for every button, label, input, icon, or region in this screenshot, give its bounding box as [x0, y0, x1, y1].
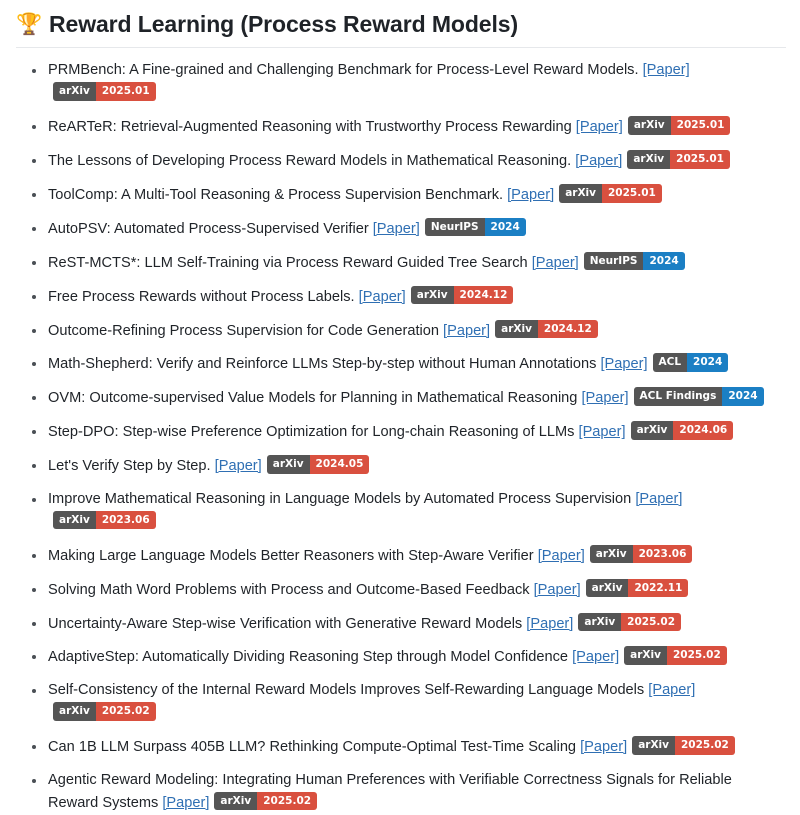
paper-link[interactable]: [Paper] — [643, 62, 690, 78]
badge-source-label: arXiv — [267, 455, 310, 474]
badge-date-label: 2025.01 — [96, 82, 156, 101]
arxiv-badge: arXiv2023.06 — [53, 511, 156, 530]
list-item: The Lessons of Developing Process Reward… — [30, 150, 786, 173]
paper-title: Uncertainty-Aware Step-wise Verification… — [48, 616, 522, 632]
list-item: Can 1B LLM Surpass 405B LLM? Rethinking … — [30, 736, 786, 759]
acl-badge: ACL Findings2024 — [634, 387, 764, 406]
paper-link[interactable]: [Paper] — [532, 255, 579, 271]
badge-date-label: 2023.06 — [96, 511, 156, 530]
paper-link[interactable]: [Paper] — [373, 221, 420, 237]
paper-title: Improve Mathematical Reasoning in Langua… — [48, 491, 631, 507]
arxiv-badge: arXiv2025.02 — [214, 792, 317, 811]
page-title: 🏆 Reward Learning (Process Reward Models… — [16, 10, 786, 48]
arxiv-badge: arXiv2025.01 — [627, 150, 730, 169]
paper-link[interactable]: [Paper] — [507, 187, 554, 203]
paper-link[interactable]: [Paper] — [443, 323, 490, 339]
paper-title: Step-DPO: Step-wise Preference Optimizat… — [48, 424, 574, 440]
paper-title: ReST-MCTS*: LLM Self-Training via Proces… — [48, 255, 528, 271]
badge-source-label: arXiv — [632, 736, 675, 755]
arxiv-badge: arXiv2025.01 — [559, 184, 662, 203]
arxiv-badge: arXiv2024.05 — [267, 455, 370, 474]
badge-source-label: arXiv — [53, 511, 96, 530]
badge-date-label: 2025.02 — [675, 736, 735, 755]
badge-date-label: 2024 — [722, 387, 763, 406]
paper-title: ReARTeR: Retrieval-Augmented Reasoning w… — [48, 119, 572, 135]
arxiv-badge: arXiv2025.02 — [624, 646, 727, 665]
neurips-badge: NeurIPS2024 — [425, 218, 526, 237]
badge-date-label: 2025.01 — [670, 150, 730, 169]
arxiv-badge: arXiv2024.12 — [411, 286, 514, 305]
badge-date-label: 2025.01 — [671, 116, 731, 135]
badge-date-label: 2024 — [687, 353, 728, 372]
paper-title: Math-Shepherd: Verify and Reinforce LLMs… — [48, 356, 596, 372]
paper-title: Free Process Rewards without Process Lab… — [48, 289, 355, 305]
badge-source-label: ACL — [653, 353, 688, 372]
list-item: Solving Math Word Problems with Process … — [30, 579, 786, 602]
list-item: Agentic Reward Modeling: Integrating Hum… — [30, 770, 786, 815]
badge-date-label: 2024.06 — [673, 421, 733, 440]
arxiv-badge: arXiv2025.02 — [53, 702, 156, 721]
list-item: Step-DPO: Step-wise Preference Optimizat… — [30, 421, 786, 444]
badge-date-label: 2025.02 — [667, 646, 727, 665]
badge-source-label: arXiv — [627, 150, 670, 169]
paper-title: PRMBench: A Fine-grained and Challenging… — [48, 62, 639, 78]
badge-source-label: arXiv — [590, 545, 633, 564]
paper-link[interactable]: [Paper] — [572, 649, 619, 665]
paper-title: Making Large Language Models Better Reas… — [48, 548, 534, 564]
paper-link[interactable]: [Paper] — [215, 458, 262, 474]
paper-link[interactable]: [Paper] — [162, 795, 209, 811]
paper-title: Self-Consistency of the Internal Reward … — [48, 682, 644, 698]
paper-link[interactable]: [Paper] — [538, 548, 585, 564]
badge-source-label: arXiv — [586, 579, 629, 598]
page-title-text: Reward Learning (Process Reward Models) — [49, 10, 518, 39]
paper-title: Agentic Reward Modeling: Integrating Hum… — [48, 772, 732, 811]
paper-title: OVM: Outcome-supervised Value Models for… — [48, 390, 577, 406]
arxiv-badge: arXiv2025.01 — [628, 116, 731, 135]
badge-source-label: arXiv — [578, 613, 621, 632]
badge-date-label: 2025.02 — [257, 792, 317, 811]
neurips-badge: NeurIPS2024 — [584, 252, 685, 271]
paper-title: The Lessons of Developing Process Reward… — [48, 153, 571, 169]
badge-source-label: NeurIPS — [584, 252, 644, 271]
badge-source-label: arXiv — [624, 646, 667, 665]
list-item: OVM: Outcome-supervised Value Models for… — [30, 387, 786, 410]
list-item: Self-Consistency of the Internal Reward … — [30, 680, 786, 725]
list-item: Outcome-Refining Process Supervision for… — [30, 320, 786, 343]
arxiv-badge: arXiv2022.11 — [586, 579, 689, 598]
paper-title: AutoPSV: Automated Process-Supervised Ve… — [48, 221, 369, 237]
paper-link[interactable]: [Paper] — [359, 289, 406, 305]
badge-source-label: arXiv — [495, 320, 538, 339]
badge-date-label: 2025.02 — [96, 702, 156, 721]
list-item: AdaptiveStep: Automatically Dividing Rea… — [30, 646, 786, 669]
badge-date-label: 2023.06 — [633, 545, 693, 564]
badge-source-label: arXiv — [53, 702, 96, 721]
paper-link[interactable]: [Paper] — [579, 424, 626, 440]
paper-list: PRMBench: A Fine-grained and Challenging… — [14, 60, 786, 814]
badge-date-label: 2025.02 — [621, 613, 681, 632]
paper-title: Solving Math Word Problems with Process … — [48, 582, 530, 598]
badge-date-label: 2024 — [643, 252, 684, 271]
list-item: Let's Verify Step by Step. [Paper]arXiv2… — [30, 455, 786, 478]
list-item: Free Process Rewards without Process Lab… — [30, 286, 786, 309]
badge-source-label: NeurIPS — [425, 218, 485, 237]
paper-link[interactable]: [Paper] — [575, 153, 622, 169]
badge-source-label: arXiv — [214, 792, 257, 811]
paper-link[interactable]: [Paper] — [526, 616, 573, 632]
badge-source-label: arXiv — [559, 184, 602, 203]
paper-title: Can 1B LLM Surpass 405B LLM? Rethinking … — [48, 739, 576, 755]
arxiv-badge: arXiv2025.02 — [578, 613, 681, 632]
list-item: Improve Mathematical Reasoning in Langua… — [30, 489, 786, 534]
arxiv-badge: arXiv2025.01 — [53, 82, 156, 101]
paper-link[interactable]: [Paper] — [576, 119, 623, 135]
paper-title: Outcome-Refining Process Supervision for… — [48, 323, 439, 339]
trophy-icon: 🏆 — [16, 14, 40, 35]
list-item: Uncertainty-Aware Step-wise Verification… — [30, 613, 786, 636]
paper-link[interactable]: [Paper] — [635, 491, 682, 507]
badge-date-label: 2024 — [485, 218, 526, 237]
arxiv-badge: arXiv2025.02 — [632, 736, 735, 755]
paper-link[interactable]: [Paper] — [648, 682, 695, 698]
list-item: ReST-MCTS*: LLM Self-Training via Proces… — [30, 252, 786, 275]
badge-date-label: 2022.11 — [628, 579, 688, 598]
badge-date-label: 2025.01 — [602, 184, 662, 203]
page-container: 🏆 Reward Learning (Process Reward Models… — [0, 0, 800, 815]
paper-link[interactable]: [Paper] — [581, 390, 628, 406]
paper-link[interactable]: [Paper] — [580, 739, 627, 755]
paper-title: ToolComp: A Multi-Tool Reasoning & Proce… — [48, 187, 503, 203]
badge-date-label: 2024.12 — [454, 286, 514, 305]
badge-source-label: arXiv — [631, 421, 674, 440]
badge-date-label: 2024.05 — [310, 455, 370, 474]
paper-link[interactable]: [Paper] — [600, 356, 647, 372]
badge-date-label: 2024.12 — [538, 320, 598, 339]
acl-badge: ACL2024 — [653, 353, 729, 372]
badge-source-label: arXiv — [53, 82, 96, 101]
paper-title: AdaptiveStep: Automatically Dividing Rea… — [48, 649, 568, 665]
list-item: AutoPSV: Automated Process-Supervised Ve… — [30, 218, 786, 241]
badge-source-label: ACL Findings — [634, 387, 723, 406]
arxiv-badge: arXiv2024.12 — [495, 320, 598, 339]
list-item: ReARTeR: Retrieval-Augmented Reasoning w… — [30, 116, 786, 139]
list-item: PRMBench: A Fine-grained and Challenging… — [30, 60, 786, 105]
paper-link[interactable]: [Paper] — [534, 582, 581, 598]
badge-source-label: arXiv — [411, 286, 454, 305]
list-item: Math-Shepherd: Verify and Reinforce LLMs… — [30, 353, 786, 376]
arxiv-badge: arXiv2023.06 — [590, 545, 693, 564]
paper-title: Let's Verify Step by Step. — [48, 458, 211, 474]
list-item: Making Large Language Models Better Reas… — [30, 545, 786, 568]
arxiv-badge: arXiv2024.06 — [631, 421, 734, 440]
badge-source-label: arXiv — [628, 116, 671, 135]
list-item: ToolComp: A Multi-Tool Reasoning & Proce… — [30, 184, 786, 207]
